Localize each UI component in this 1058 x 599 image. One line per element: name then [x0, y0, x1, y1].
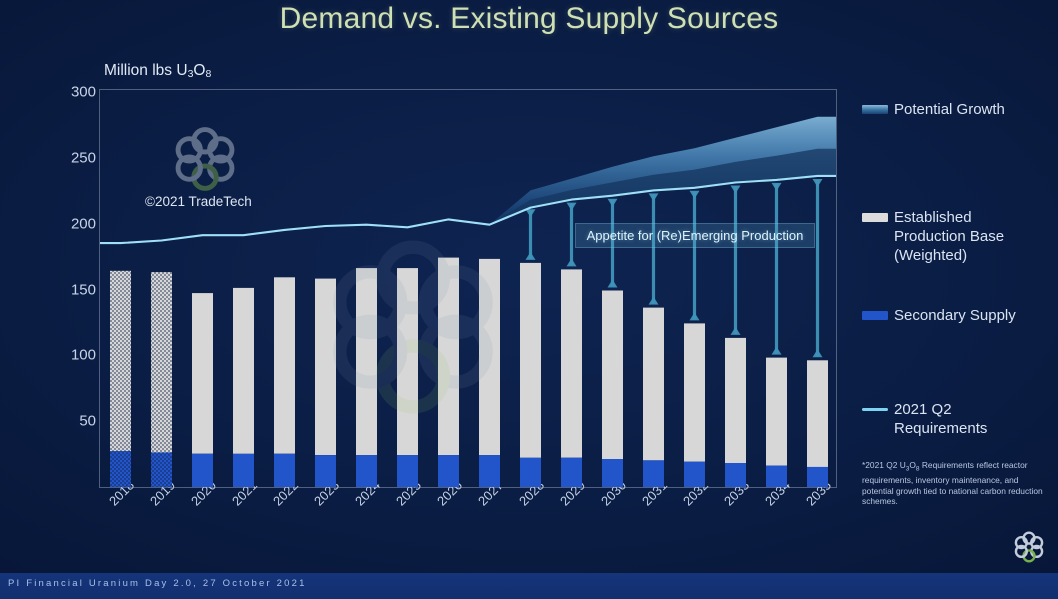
arrow-head-2031	[649, 193, 659, 201]
footer-label: PI Financial Uranium Day 2.0, 27 October…	[8, 578, 307, 589]
bar-segment-secondary-2028	[520, 458, 541, 488]
bar-segment-established-2031	[643, 308, 664, 461]
bar-segment-established-2034	[766, 358, 787, 466]
bar-segment-secondary-2018	[110, 451, 131, 488]
arrow-head-2031	[649, 297, 659, 305]
y-axis-tick: 250	[56, 149, 96, 166]
bar-segment-secondary-2031	[643, 460, 664, 488]
bar-segment-established-2021	[233, 288, 254, 454]
arrow-head-2030	[608, 199, 618, 207]
bar-segment-secondary-2021	[233, 454, 254, 488]
bar-segment-established-2018	[110, 271, 131, 451]
bar-2033[interactable]	[725, 338, 746, 488]
bar-segment-established-2020	[192, 293, 213, 454]
bar-segment-secondary-2027	[479, 455, 500, 488]
legend-item-2[interactable]: Secondary Supply	[862, 306, 1016, 325]
arrow-head-2033	[731, 327, 741, 335]
annotation-callout: Appetite for (Re)Emerging Production	[575, 223, 815, 248]
y-axis-tick: 150	[56, 281, 96, 298]
bar-segment-secondary-2019	[151, 452, 172, 488]
arrow-head-2029	[567, 203, 577, 211]
y-axis-unit-text: Million lbs U	[104, 62, 188, 79]
tradetech-logo-corner-icon	[1012, 530, 1046, 569]
slide: Demand vs. Existing Supply Sources Milli…	[0, 0, 1058, 599]
legend-line-icon-3	[862, 408, 888, 411]
tradetech-flower-corner-icon	[1012, 530, 1046, 564]
tradetech-logo-large-watermark	[318, 232, 508, 427]
x-axis: 2018201920202021202220232024202520262027…	[99, 490, 837, 540]
arrow-head-2028	[526, 209, 536, 217]
legend-swatch-icon-2	[862, 311, 888, 320]
bar-segment-secondary-2030	[602, 459, 623, 488]
y-axis-unit-label: Million lbs U3O8	[104, 62, 211, 80]
y-axis-tick: 200	[56, 215, 96, 232]
legend-item-0[interactable]: Potential Growth	[862, 100, 1005, 119]
bar-segment-secondary-2026	[438, 455, 459, 488]
bar-segment-established-2028	[520, 263, 541, 458]
y-axis-unit-o: O	[193, 62, 205, 79]
arrow-head-2033	[731, 186, 741, 194]
arrow-head-2029	[567, 258, 577, 266]
legend-label-0: Potential Growth	[894, 100, 1005, 119]
y-axis-unit-sub-8: 8	[205, 68, 211, 80]
y-axis-tick: 50	[56, 413, 96, 430]
legend-label-3: 2021 Q2Requirements	[894, 400, 987, 438]
bar-2019[interactable]	[151, 272, 172, 488]
legend-label-1: EstablishedProduction Base(Weighted)	[894, 208, 1004, 265]
bar-segment-established-2035	[807, 360, 828, 467]
bar-segment-secondary-2024	[356, 455, 377, 488]
y-axis-tick: 100	[56, 347, 96, 364]
bar-segment-established-2029	[561, 269, 582, 457]
bar-2028[interactable]	[520, 263, 541, 488]
arrow-head-2034	[772, 347, 782, 355]
bar-segment-secondary-2033	[725, 463, 746, 488]
bar-segment-established-2030	[602, 291, 623, 460]
arrow-head-2032	[690, 312, 700, 320]
chart-footnote: *2021 Q2 U3O8 Requirements reflect react…	[862, 460, 1050, 507]
arrow-head-2034	[772, 183, 782, 191]
arrow-head-2032	[690, 191, 700, 199]
bar-segment-secondary-2035	[807, 467, 828, 488]
bar-2032[interactable]	[684, 323, 705, 488]
legend-swatch-icon-0	[862, 105, 888, 114]
page-title: Demand vs. Existing Supply Sources	[0, 2, 1058, 36]
bar-2020[interactable]	[192, 293, 213, 488]
tradetech-logo-watermark	[170, 124, 240, 199]
footer-bar: PI Financial Uranium Day 2.0, 27 October…	[0, 573, 1058, 599]
bar-2031[interactable]	[643, 308, 664, 488]
legend-item-1[interactable]: EstablishedProduction Base(Weighted)	[862, 208, 1004, 265]
bar-2022[interactable]	[274, 277, 295, 488]
legend-swatch-icon-1	[862, 213, 888, 222]
bar-segment-established-2032	[684, 323, 705, 461]
bar-segment-secondary-2034	[766, 466, 787, 488]
arrow-head-2028	[526, 252, 536, 260]
bar-segment-secondary-2020	[192, 454, 213, 488]
bar-segment-established-2022	[274, 277, 295, 453]
y-axis: 50100150200250300	[56, 80, 96, 500]
bar-2030[interactable]	[602, 291, 623, 489]
bar-segment-secondary-2025	[397, 455, 418, 488]
annotation-label: Appetite for (Re)Emerging Production	[587, 228, 804, 243]
footnote-text-a: *2021 Q2 U	[862, 460, 906, 470]
bar-2034[interactable]	[766, 358, 787, 488]
tradetech-flower-large-icon	[318, 232, 508, 422]
y-axis-tick: 300	[56, 84, 96, 101]
legend-item-3[interactable]: 2021 Q2Requirements	[862, 400, 987, 438]
bar-2035[interactable]	[807, 360, 828, 488]
legend-label-2: Secondary Supply	[894, 306, 1016, 325]
bar-segment-secondary-2023	[315, 455, 336, 488]
copyright-label: ©2021 TradeTech	[145, 194, 252, 209]
arrow-head-2035	[813, 179, 823, 187]
bar-2018[interactable]	[110, 271, 131, 488]
bar-2021[interactable]	[233, 288, 254, 488]
bar-segment-established-2019	[151, 272, 172, 452]
arrow-head-2030	[608, 280, 618, 288]
arrow-head-2035	[813, 349, 823, 357]
bar-segment-secondary-2032	[684, 462, 705, 488]
bar-segment-secondary-2029	[561, 458, 582, 488]
bar-segment-established-2033	[725, 338, 746, 463]
bar-2029[interactable]	[561, 269, 582, 488]
bar-segment-secondary-2022	[274, 454, 295, 488]
tradetech-flower-icon	[170, 124, 240, 194]
